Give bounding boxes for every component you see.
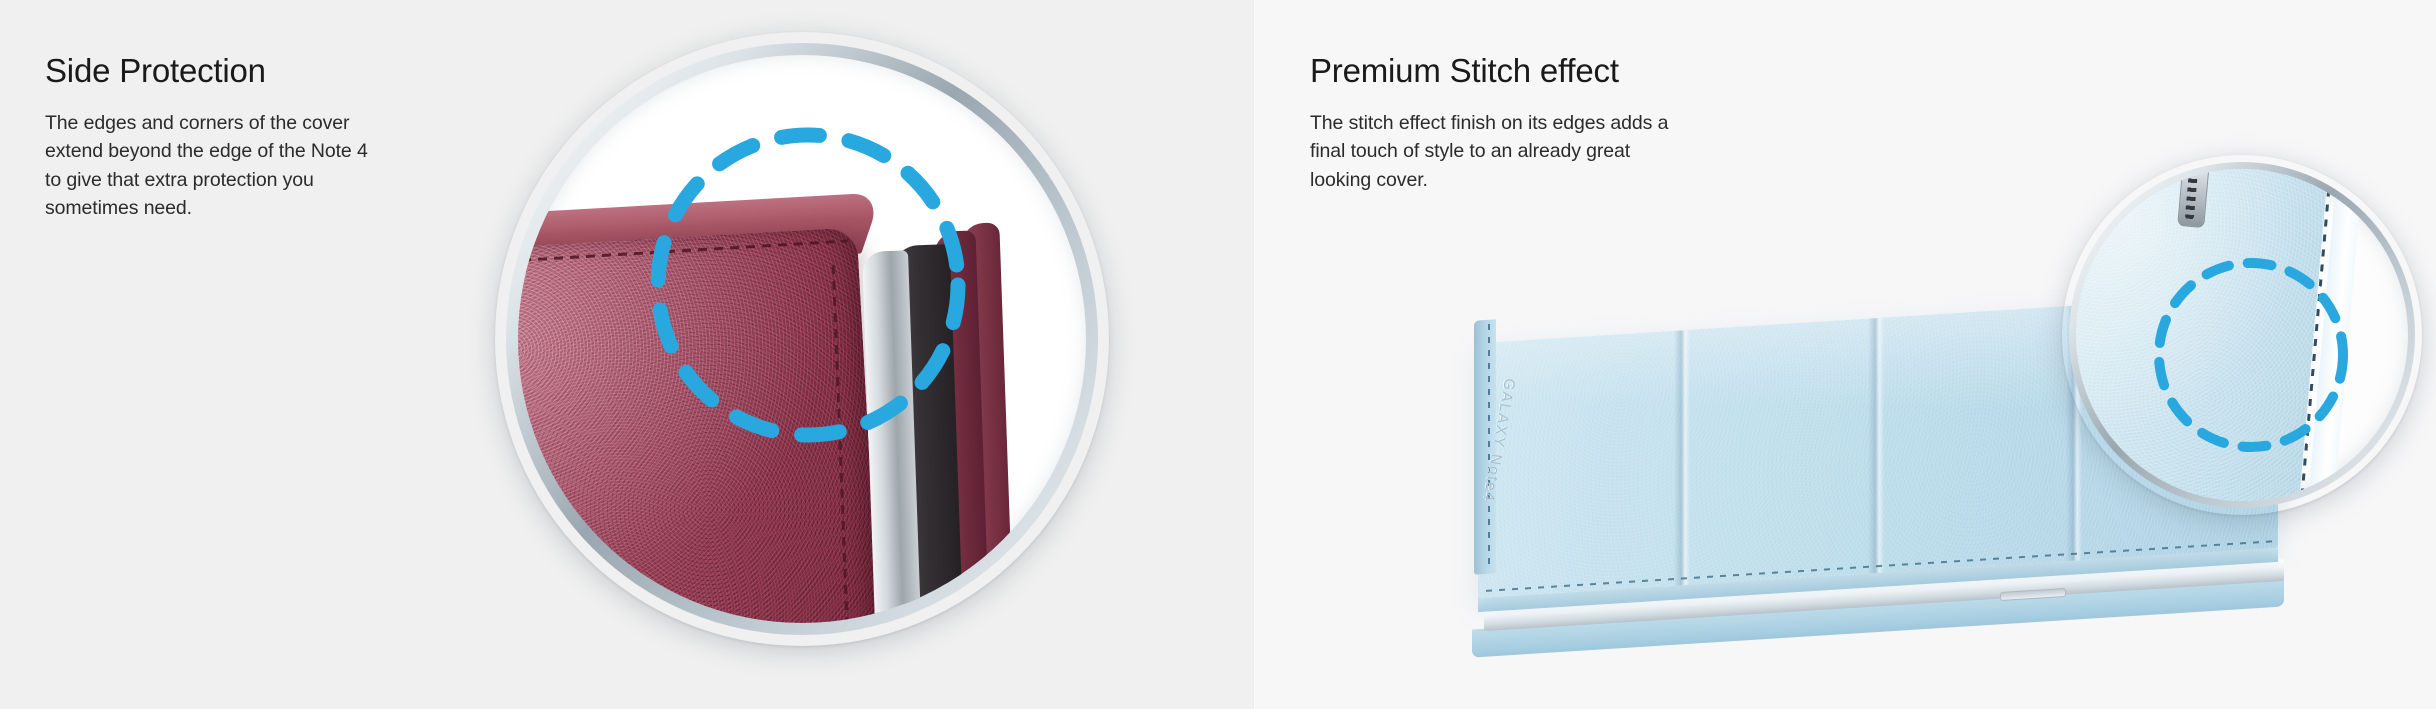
- premium-stitch-title: Premium Stitch effect: [1310, 52, 1690, 90]
- magnifier-lens: [518, 55, 1086, 623]
- panel-premium-stitch-effect: Premium Stitch effect The stitch effect …: [1253, 0, 2436, 709]
- magnifier-side-protection: [495, 32, 1109, 646]
- cover-crease-1: [1674, 330, 1690, 586]
- magnifier-lens: [2076, 169, 2408, 501]
- page-title: Side Protection: [45, 52, 385, 90]
- premium-stitch-description: The stitch effect finish on its edges ad…: [1310, 109, 1690, 195]
- premium-stitch-copy: Premium Stitch effect The stitch effect …: [1310, 52, 1690, 194]
- panel-side-protection: Side Protection The edges and corners of…: [0, 0, 1253, 709]
- cover-crease-2: [1868, 318, 1884, 574]
- panel-divider: [1253, 0, 1256, 709]
- highlight-dashed-circle-icon: [518, 55, 1086, 623]
- side-protection-description: The edges and corners of the cover exten…: [45, 109, 385, 223]
- side-protection-copy: Side Protection The edges and corners of…: [45, 52, 385, 223]
- feature-comparison-stage: Side Protection The edges and corners of…: [0, 0, 2436, 709]
- highlight-dashed-circle-icon: [2076, 169, 2408, 501]
- magnifier-premium-stitch: [2062, 155, 2422, 515]
